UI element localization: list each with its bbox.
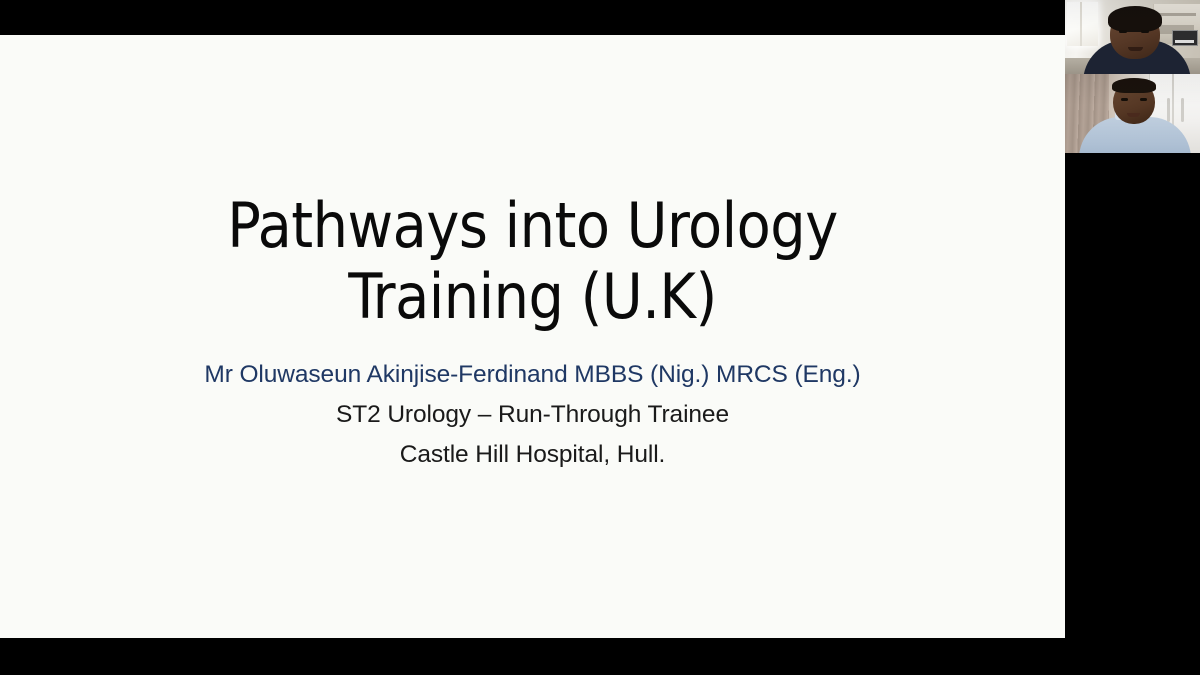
person-hair-1 [1108, 6, 1162, 32]
video-frame-1 [1065, 0, 1200, 74]
person-hair-2 [1112, 78, 1156, 93]
letterbox-bar-bottom [0, 638, 1200, 675]
slide-subtitle-block: Mr Oluwaseun Akinjise-Ferdinand MBBS (Ni… [0, 355, 1065, 475]
participant-video-tile-1[interactable] [1065, 0, 1200, 74]
presenter-role-line: ST2 Urology – Run-Through Trainee [0, 395, 1065, 435]
person-eye-left-2 [1121, 98, 1128, 101]
wardrobe-handle-right [1181, 98, 1184, 122]
presenter-location-line: Castle Hill Hospital, Hull. [0, 435, 1065, 475]
person-mouth-1 [1128, 47, 1143, 51]
appliance-shape [1172, 30, 1198, 46]
wardrobe-handle-left [1167, 98, 1170, 122]
participant-video-tile-2[interactable] [1065, 74, 1200, 153]
window-shape [1067, 2, 1098, 46]
video-frame-2 [1065, 74, 1200, 153]
person-eye-right-1 [1141, 30, 1149, 33]
person-eye-left-1 [1119, 30, 1127, 33]
letterbox-bar-top [0, 0, 1200, 35]
presenter-name-line: Mr Oluwaseun Akinjise-Ferdinand MBBS (Ni… [0, 355, 1065, 395]
webcam-tile-column [1065, 0, 1200, 153]
person-mouth-2 [1127, 113, 1140, 117]
letterbox-bar-right [1065, 153, 1200, 638]
person-eye-right-2 [1140, 98, 1147, 101]
screen-share-stage: Pathways into Urology Training (U.K) Mr … [0, 0, 1200, 675]
slide-content: Pathways into Urology Training (U.K) Mr … [0, 35, 1065, 638]
shared-presentation-slide[interactable]: Pathways into Urology Training (U.K) Mr … [0, 35, 1065, 638]
slide-title: Pathways into Urology Training (U.K) [0, 190, 1065, 333]
